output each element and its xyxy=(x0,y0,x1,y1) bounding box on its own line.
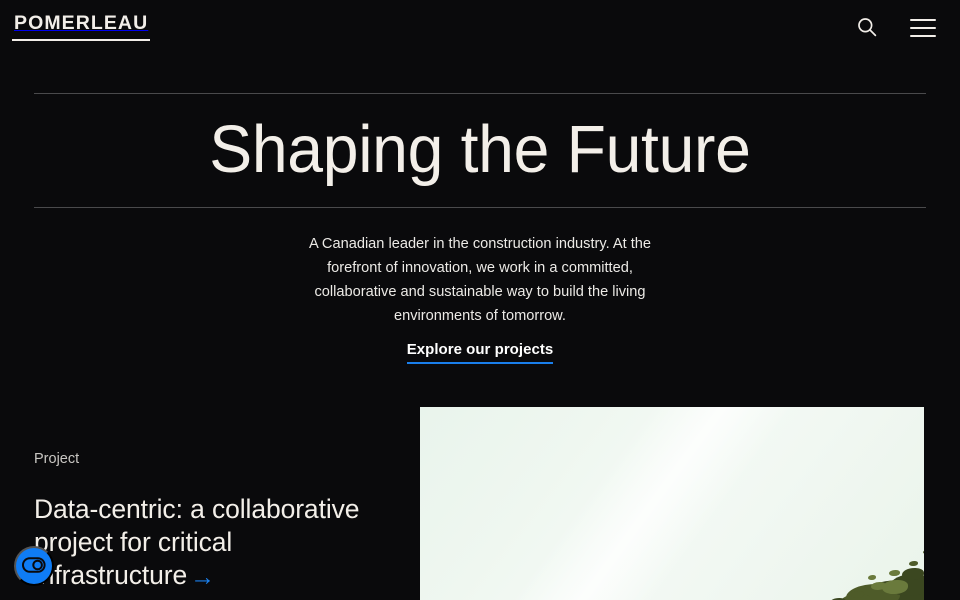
toggle-switch-icon xyxy=(22,557,46,576)
search-button[interactable] xyxy=(850,11,884,45)
search-icon xyxy=(856,16,878,41)
hero-section: Shaping the Future xyxy=(34,93,926,208)
menu-button[interactable] xyxy=(906,11,940,45)
hamburger-menu-icon xyxy=(910,19,936,37)
site-header: POMERLEAU xyxy=(0,0,960,56)
hero-title-container: Shaping the Future xyxy=(34,94,926,207)
page-title: Shaping the Future xyxy=(209,116,750,184)
featured-project-section: Project Data-centric: a collaborative pr… xyxy=(0,407,960,600)
hero-description: A Canadian leader in the construction in… xyxy=(290,232,670,328)
hero-cta-container: Explore our projects xyxy=(0,341,960,364)
featured-project-kicker: Project xyxy=(34,452,364,467)
foliage-cluster xyxy=(780,530,924,600)
explore-projects-link[interactable]: Explore our projects xyxy=(407,341,553,364)
arrow-right-icon: → xyxy=(187,563,215,591)
hero-divider-bottom xyxy=(34,207,926,208)
featured-project-title[interactable]: Data-centric: a collaborative project fo… xyxy=(34,493,364,592)
featured-project-text: Project Data-centric: a collaborative pr… xyxy=(34,452,364,592)
brand-logo[interactable]: POMERLEAU xyxy=(12,14,150,41)
brand-logo-label: POMERLEAU xyxy=(14,14,148,34)
featured-project-image[interactable] xyxy=(420,407,924,600)
header-actions xyxy=(850,11,940,45)
consent-preferences-button[interactable] xyxy=(14,546,54,586)
page-root: POMERLEAU Shaping the Future xyxy=(0,0,960,600)
